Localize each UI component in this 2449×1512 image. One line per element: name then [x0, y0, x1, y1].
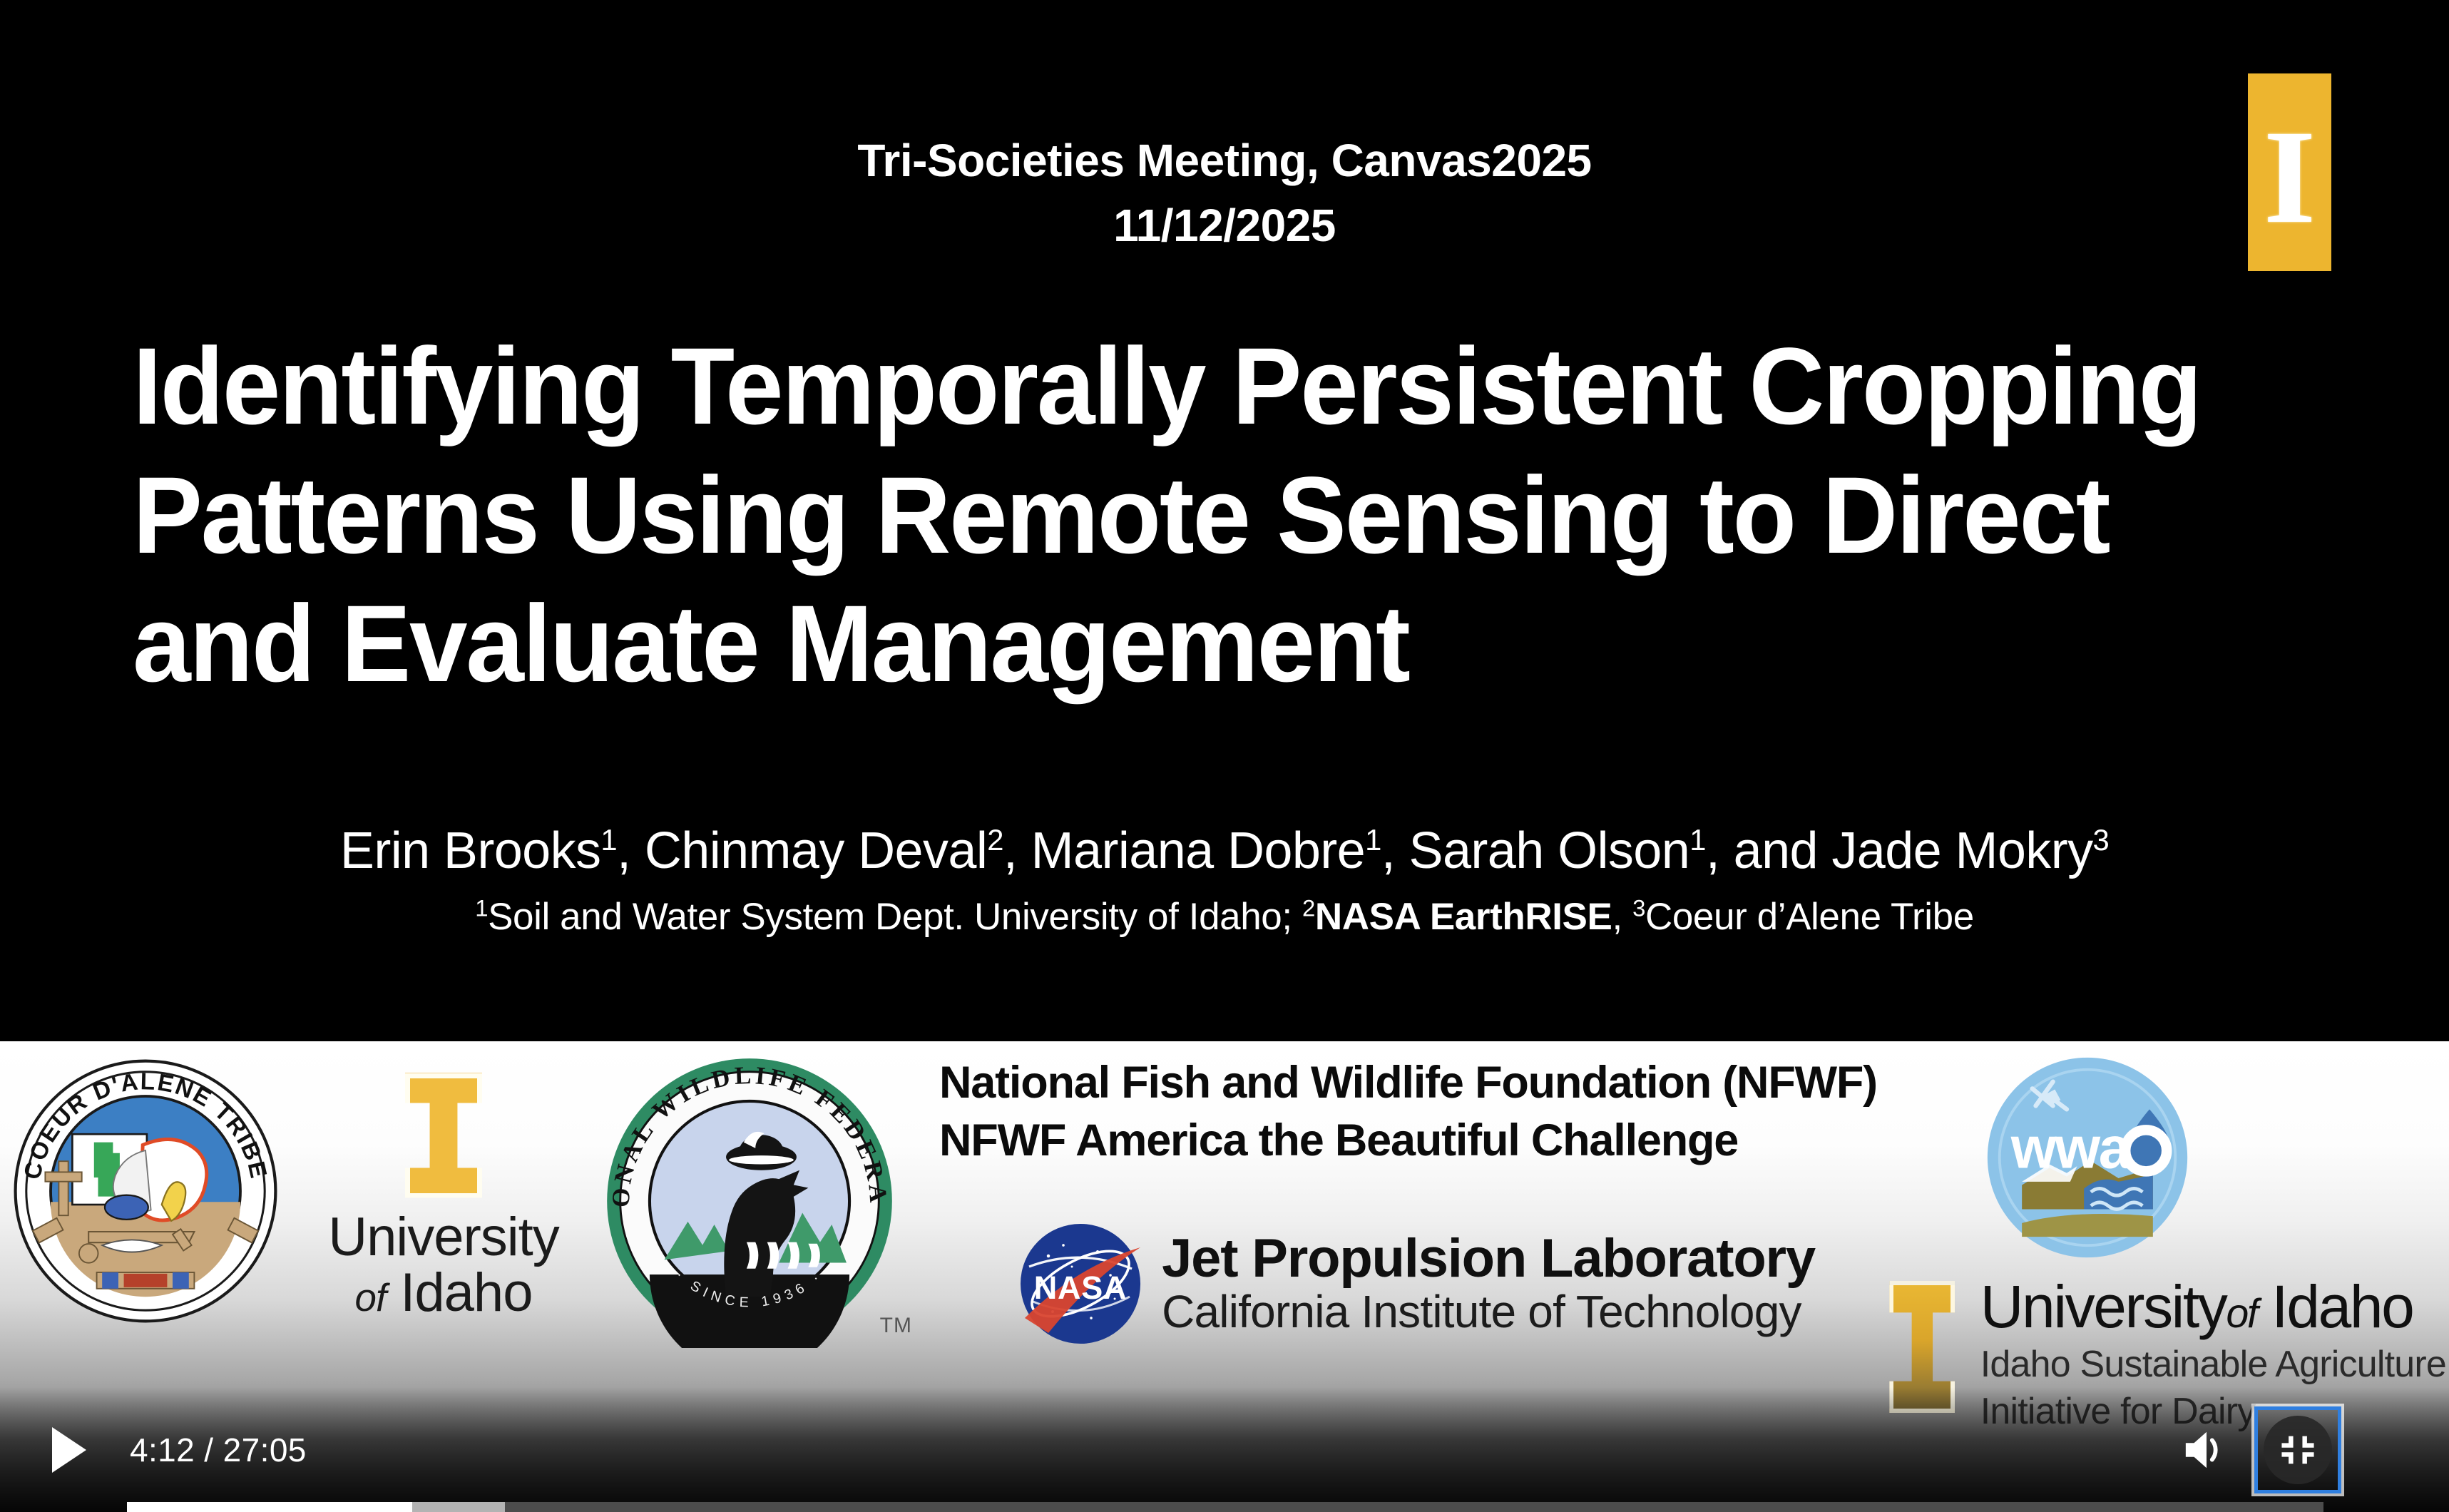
author-4-affiliation-marker: 1 — [1689, 823, 1706, 857]
jpl-wordmark: Jet Propulsion Laboratory California Ins… — [1162, 1230, 1815, 1336]
uidaho-of: of — [355, 1275, 387, 1319]
wwao-logo: wwa — [1984, 1054, 2191, 1261]
affiliation-3-marker: 3 — [1632, 894, 1645, 921]
nfwf-line-1: National Fish and Wildlife Foundation (N… — [939, 1054, 1877, 1112]
volume-button[interactable] — [2169, 1413, 2244, 1487]
exit-fullscreen-icon — [2277, 1429, 2318, 1471]
university-of-idaho-wordmark: University of Idaho — [322, 1210, 565, 1320]
isaid-university-wordmark: Universityof Idaho — [1980, 1277, 2446, 1338]
jpl-line-1: Jet Propulsion Laboratory — [1162, 1230, 1815, 1288]
coeur-dalene-tribe-seal-icon: COEUR D'ALENE TRIBE — [10, 1056, 281, 1327]
coeur-dalene-tribe-logo: COEUR D'ALENE TRIBE — [10, 1056, 281, 1327]
svg-text:wwa: wwa — [2010, 1116, 2132, 1181]
nfwf-wordmark: National Fish and Wildlife Foundation (N… — [939, 1054, 1877, 1169]
affiliation-separator: , — [1612, 896, 1632, 938]
author-3-affiliation-marker: 1 — [1365, 823, 1381, 857]
national-wildlife-federation-seal-icon: NATIONAL WILDLIFE FEDERATION · SINCE 193… — [603, 1054, 896, 1348]
affiliation-1-marker: 1 — [475, 894, 488, 921]
author-list: Erin Brooks1, Chinmay Deval2, Mariana Do… — [0, 820, 2449, 882]
author-1-affiliation-marker: 1 — [600, 823, 617, 857]
wwao-circle-icon: wwa — [1984, 1054, 2191, 1261]
isaid-idaho: Idaho — [2271, 1273, 2413, 1340]
author-4: , Sarah Olson — [1381, 822, 1689, 879]
university-of-idaho-logo: University of Idaho — [322, 1061, 565, 1325]
author-2-affiliation-marker: 2 — [987, 823, 1003, 857]
isaid-university: University — [1980, 1273, 2226, 1340]
affiliation-1: Soil and Water System Dept. University o… — [488, 896, 1302, 938]
page-title: Identifying Temporally Persistent Croppi… — [133, 322, 2269, 709]
more-options-button[interactable] — [2358, 1413, 2432, 1487]
time-display: 4:12 / 27:05 — [130, 1431, 307, 1469]
isaid-of: of — [2226, 1291, 2256, 1337]
affiliation-2-marker: 2 — [1302, 894, 1315, 921]
meeting-header: Tri-Societies Meeting, Canvas2025 11/12/… — [0, 128, 2449, 258]
nwf-trademark: TM — [880, 1314, 912, 1338]
play-button[interactable] — [34, 1417, 100, 1483]
progress-played — [127, 1502, 412, 1512]
play-icon — [52, 1427, 86, 1473]
author-5: , and Jade Mokry — [1706, 822, 2093, 879]
national-wildlife-federation-logo: NATIONAL WILDLIFE FEDERATION · SINCE 193… — [603, 1054, 896, 1348]
author-2: , Chinmay Deval — [617, 822, 987, 879]
uidaho-line-1: University — [322, 1210, 565, 1265]
affiliation-2: NASA EarthRISE — [1315, 896, 1612, 938]
volume-icon — [2182, 1427, 2231, 1473]
nasa-meatball-icon: NASA — [1016, 1214, 1145, 1354]
presentation-slide: I Tri-Societies Meeting, Canvas2025 11/1… — [0, 0, 2449, 1512]
nasa-jpl-logo: NASA Jet Propulsion Laboratory Californi… — [1016, 1207, 1815, 1360]
isaid-line-2: Idaho Sustainable Agriculture — [1980, 1344, 2446, 1386]
svg-text:NASA: NASA — [1034, 1270, 1128, 1306]
meeting-name: Tri-Societies Meeting, Canvas2025 — [0, 128, 2449, 193]
video-player[interactable]: I Tri-Societies Meeting, Canvas2025 11/1… — [0, 0, 2449, 1512]
jpl-line-2: California Institute of Technology — [1162, 1288, 1815, 1337]
exit-fullscreen-button[interactable] — [2256, 1409, 2339, 1491]
author-5-affiliation-marker: 3 — [2092, 823, 2109, 857]
author-3: , Mariana Dobre — [1003, 822, 1365, 879]
meeting-date: 11/12/2025 — [0, 193, 2449, 258]
author-1: Erin Brooks — [340, 822, 601, 879]
affiliation-list: 1Soil and Water System Dept. University … — [0, 894, 2449, 940]
nfwf-line-2: NFWF America the Beautiful Challenge — [939, 1112, 1877, 1170]
video-control-bar: 4:12 / 27:05 — [0, 1387, 2449, 1512]
uidaho-line-2: Idaho — [400, 1262, 532, 1323]
affiliation-3: Coeur d’Alene Tribe — [1645, 896, 1974, 938]
progress-bar[interactable] — [127, 1502, 2323, 1512]
idaho-block-i-icon — [322, 1061, 565, 1210]
